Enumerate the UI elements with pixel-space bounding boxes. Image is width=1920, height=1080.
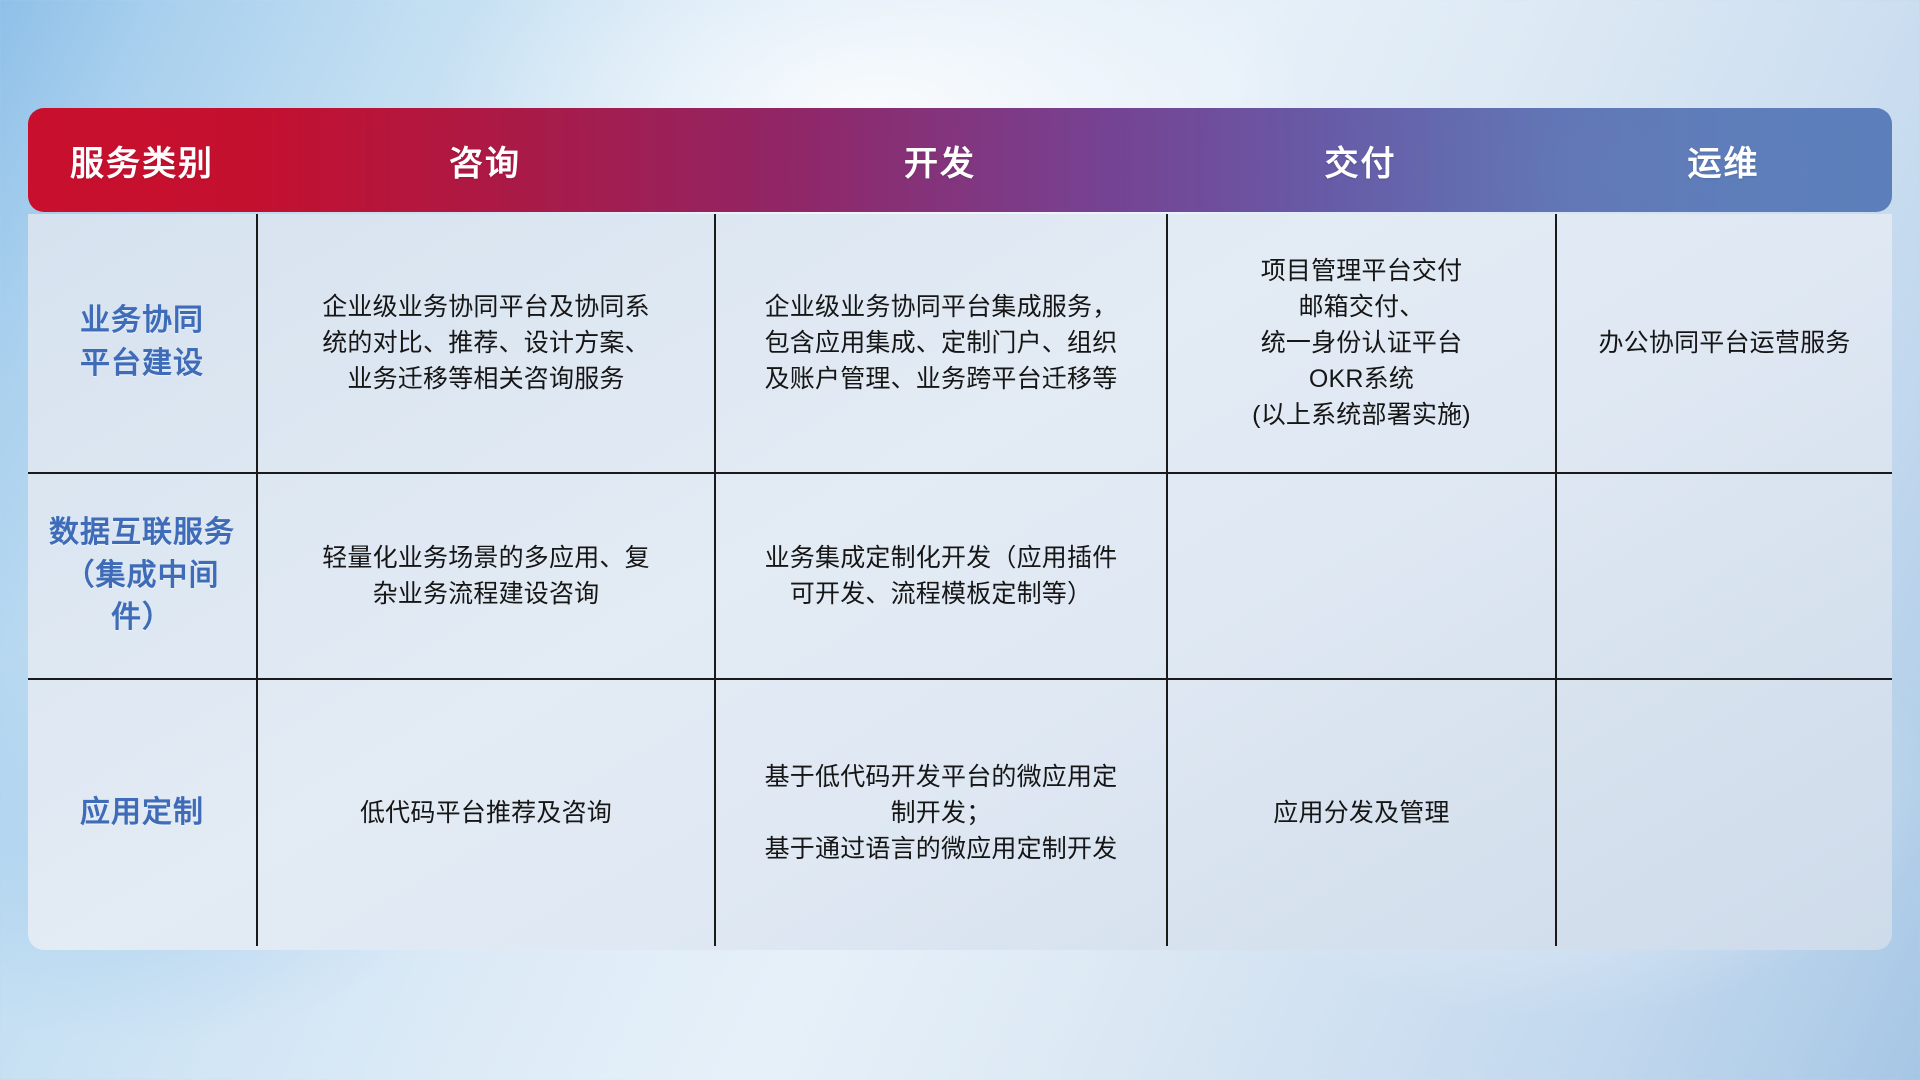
cell-operations	[1555, 680, 1892, 946]
cell-consulting: 企业级业务协同平台及协同系 统的对比、推荐、设计方案、 业务迁移等相关咨询服务	[256, 214, 714, 472]
cell-consulting: 轻量化业务场景的多应用、复 杂业务流程建设咨询	[256, 474, 714, 678]
cell-text: 企业级业务协同平台及协同系 统的对比、推荐、设计方案、 业务迁移等相关咨询服务	[322, 289, 650, 397]
cell-text: 项目管理平台交付 邮箱交付、 统一身份认证平台 OKR系统 (以上系统部署实施)	[1252, 253, 1471, 433]
cell-operations	[1555, 474, 1892, 678]
cell-delivery: 应用分发及管理	[1166, 680, 1555, 946]
table-row: 业务协同 平台建设 企业级业务协同平台及协同系 统的对比、推荐、设计方案、 业务…	[28, 214, 1892, 472]
cell-delivery: 项目管理平台交付 邮箱交付、 统一身份认证平台 OKR系统 (以上系统部署实施)	[1166, 214, 1555, 472]
row-category-label: 数据互联服务 （集成中间件）	[42, 512, 242, 640]
column-header-development: 开发	[714, 136, 1166, 185]
cell-text: 基于低代码开发平台的微应用定 制开发； 基于通过语言的微应用定制开发	[765, 759, 1118, 867]
cell-development: 业务集成定制化开发（应用插件 可开发、流程模板定制等）	[714, 474, 1166, 678]
cell-development: 基于低代码开发平台的微应用定 制开发； 基于通过语言的微应用定制开发	[714, 680, 1166, 946]
column-header-delivery: 交付	[1166, 136, 1555, 185]
row-category-cell: 应用定制	[28, 680, 256, 946]
cell-text: 轻量化业务场景的多应用、复 杂业务流程建设咨询	[322, 540, 650, 612]
cell-consulting: 低代码平台推荐及咨询	[256, 680, 714, 946]
table-row: 数据互联服务 （集成中间件） 轻量化业务场景的多应用、复 杂业务流程建设咨询 业…	[28, 472, 1892, 678]
cell-operations: 办公协同平台运营服务	[1555, 214, 1892, 472]
cell-text: 业务集成定制化开发（应用插件 可开发、流程模板定制等）	[765, 540, 1118, 612]
table-body: 业务协同 平台建设 企业级业务协同平台及协同系 统的对比、推荐、设计方案、 业务…	[28, 214, 1892, 950]
cell-text: 办公协同平台运营服务	[1598, 325, 1850, 361]
column-header-consulting: 咨询	[256, 136, 714, 185]
cell-text: 应用分发及管理	[1273, 795, 1449, 831]
row-category-label: 业务协同 平台建设	[80, 300, 204, 385]
table-header-row: 服务类别 咨询 开发 交付 运维	[28, 108, 1892, 212]
table-row: 应用定制 低代码平台推荐及咨询 基于低代码开发平台的微应用定 制开发； 基于通过…	[28, 678, 1892, 946]
row-category-cell: 业务协同 平台建设	[28, 214, 256, 472]
cell-delivery	[1166, 474, 1555, 678]
cell-development: 企业级业务协同平台集成服务， 包含应用集成、定制门户、组织 及账户管理、业务跨平…	[714, 214, 1166, 472]
row-category-label: 应用定制	[80, 792, 204, 835]
column-header-category: 服务类别	[28, 136, 256, 185]
cell-text: 企业级业务协同平台集成服务， 包含应用集成、定制门户、组织 及账户管理、业务跨平…	[765, 289, 1118, 397]
cell-text: 低代码平台推荐及咨询	[360, 795, 612, 831]
row-category-cell: 数据互联服务 （集成中间件）	[28, 474, 256, 678]
service-matrix-table: 服务类别 咨询 开发 交付 运维 业务协同 平台建设 企业级业务协同平台及协同系…	[28, 108, 1892, 948]
column-header-operations: 运维	[1555, 136, 1892, 185]
